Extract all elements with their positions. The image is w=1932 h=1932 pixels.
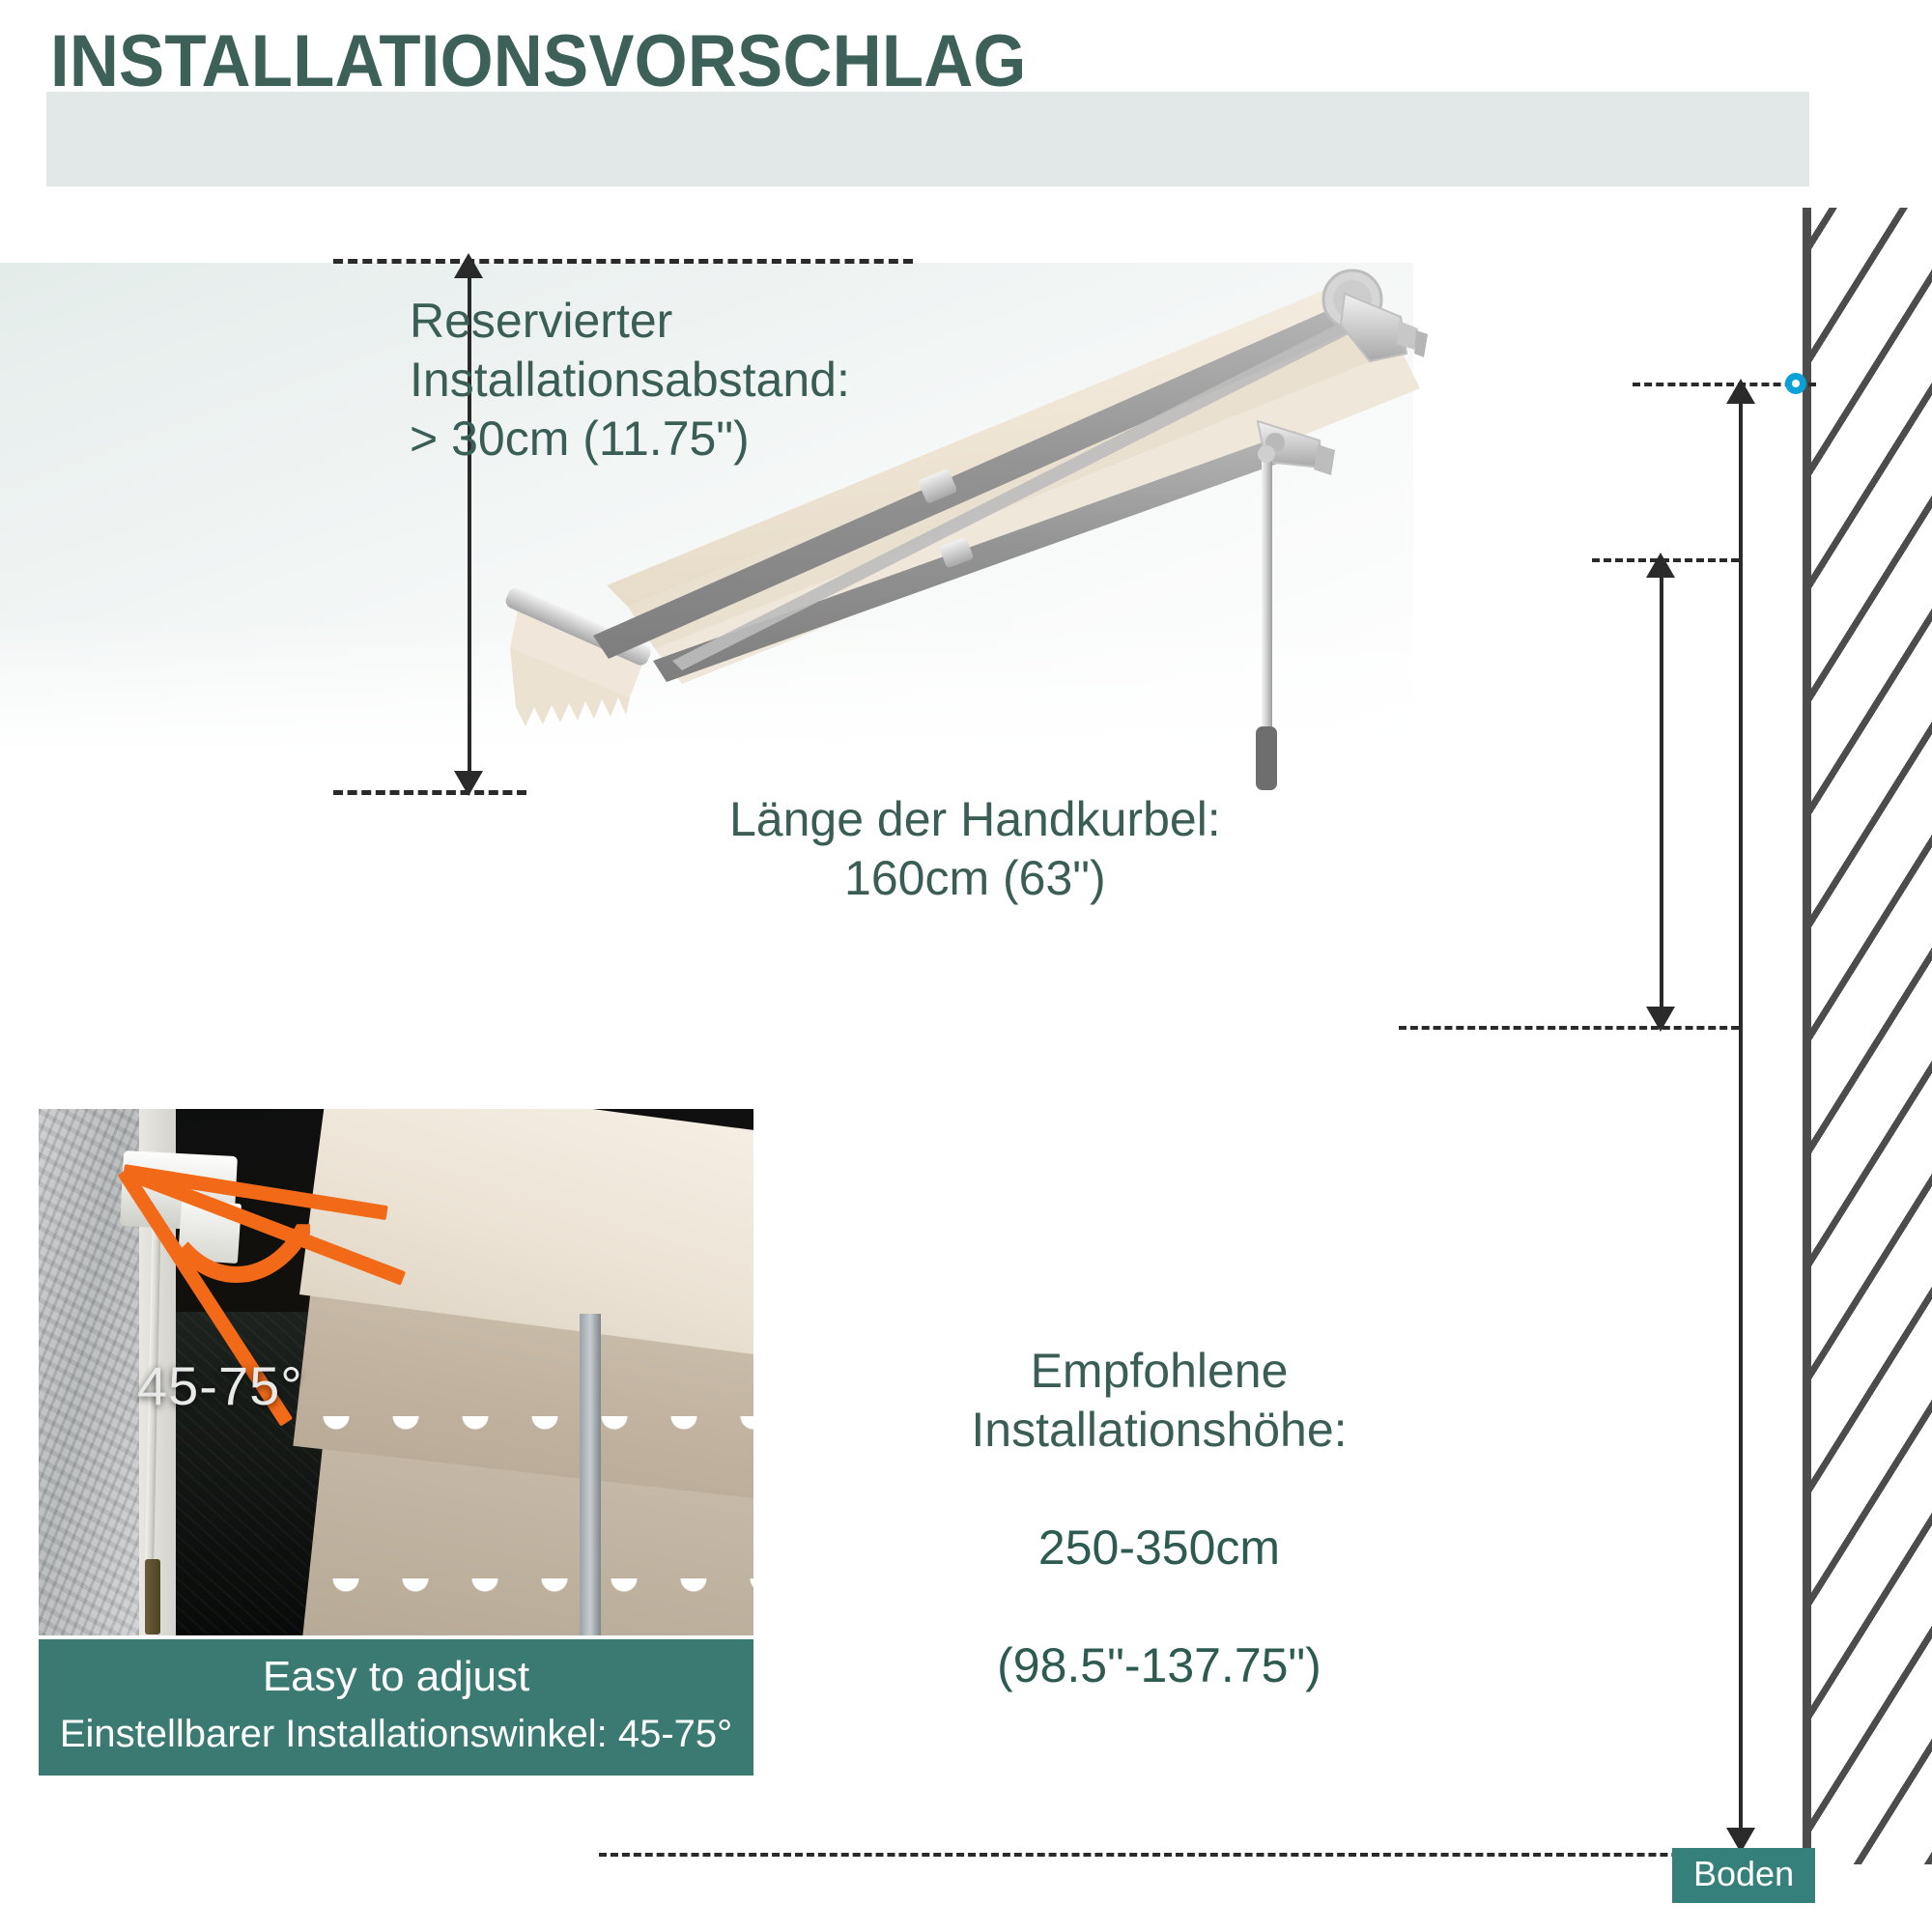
install-height-value: 250-350cm (952, 1519, 1367, 1577)
inset-caption-subtitle: Einstellbarer Installationswinkel: 45-75… (39, 1713, 753, 1756)
page-title: INSTALLATIONSVORSCHLAG (50, 25, 1027, 99)
inset-caption-band: Easy to adjust Einstellbarer Installatio… (39, 1639, 753, 1776)
height-dim-vertical-line (1739, 396, 1743, 1845)
header-band (46, 92, 1809, 186)
hand-crank-pole (1262, 450, 1272, 740)
install-height-label: Empfohlene Installationshöhe: (952, 1342, 1367, 1460)
dim-arrow-down-reserved (454, 771, 483, 796)
crank-length-label: Länge der Handkurbel: 160cm (63") (729, 790, 1221, 908)
wall-hatch-pattern (1811, 208, 1932, 1864)
crank-dim-vertical-line (1660, 572, 1663, 1012)
crank-dim-arrow-down (1646, 1007, 1675, 1032)
photo-scallop-mid (319, 1416, 753, 1441)
install-height-block: Empfohlene Installationshöhe: 250-350cm … (952, 1283, 1367, 1754)
dim-top-dashed-line (333, 259, 913, 264)
ground-line-dashed (599, 1853, 1748, 1857)
install-height-value-inches: (98.5"-137.75") (952, 1636, 1367, 1695)
hand-crank-handle (1256, 726, 1277, 790)
dim-bottom-dashed-line (333, 790, 526, 795)
photo-door-mullion (580, 1314, 601, 1635)
wall-section (1803, 208, 1932, 1864)
installation-diagram-page: INSTALLATIONSVORSCHLAG (0, 0, 1932, 1932)
height-dim-arrow-up (1726, 379, 1755, 404)
reserved-distance-label: Reservierter Installationsabstand: > 30c… (410, 292, 850, 469)
ground-label-chip: Boden (1672, 1848, 1815, 1903)
dim-arrow-up-reserved (454, 253, 483, 278)
inset-caption-title: Easy to adjust (39, 1653, 753, 1701)
photo-scallop-lower (328, 1578, 753, 1604)
photo-crank-grip (145, 1559, 160, 1634)
mount-point-marker-icon (1785, 373, 1806, 394)
crank-dim-arrow-up (1646, 553, 1675, 578)
crank-eye (1258, 445, 1275, 463)
crank-dim-bottom-dashed (1399, 1026, 1739, 1030)
angle-range-label: 45-75° (137, 1354, 303, 1417)
